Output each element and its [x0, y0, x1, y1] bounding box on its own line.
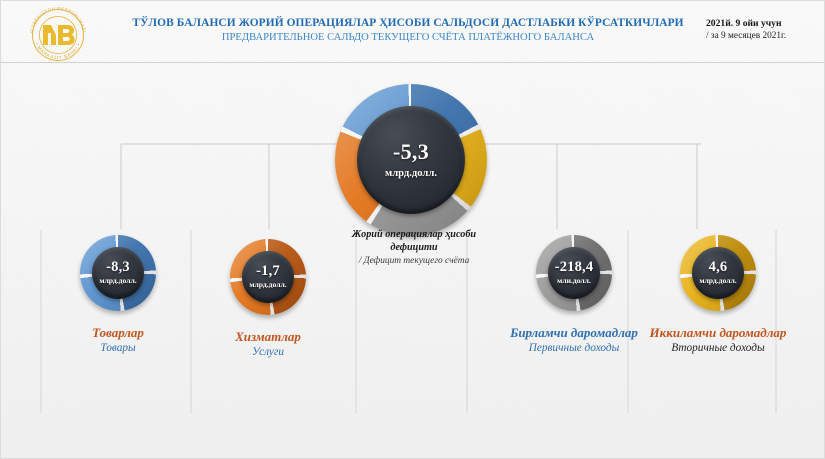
node-label-ru: Услуги	[188, 345, 348, 360]
node-unit: млн.долл.	[557, 276, 591, 286]
node-unit: млрд.долл.	[99, 276, 136, 286]
node-label-ru: Первичные доходы	[494, 341, 654, 356]
node-value: 4,6	[709, 260, 728, 275]
central-donut-chart: -5,3 млрд.долл.	[335, 84, 487, 236]
central-value: -5,3	[393, 140, 429, 164]
title-block: ТЎЛОВ БАЛАНСИ ЖОРИЙ ОПЕРАЦИЯЛАР ҲИСОБИ С…	[113, 16, 703, 45]
page-title-ru: ПРЕДВАРИТЕЛЬНОЕ САЛЬДО ТЕКУЩЕГО СЧЁТА ПЛ…	[113, 31, 703, 45]
central-unit: млрд.долл.	[385, 167, 437, 181]
node-label-uz: Товарлар	[38, 325, 198, 341]
node-label-primary-income: Бирламчи даромадлар Первичные доходы	[494, 325, 654, 356]
node-label-secondary-income: Иккиламчи даромадлар Вторичные доходы	[638, 325, 798, 356]
node-services[interactable]: -1,7 млрд.долл. Хизматлар Услуги	[188, 239, 348, 360]
node-hub-goods: -8,3 млрд.долл.	[92, 247, 144, 299]
node-hub-primary-income: -218,4 млн.долл.	[548, 247, 600, 299]
node-label-services: Хизматлар Услуги	[188, 329, 348, 360]
node-label-ru: Товары	[38, 341, 198, 356]
page-title-uz: ТЎЛОВ БАЛАНСИ ЖОРИЙ ОПЕРАЦИЯЛАР ҲИСОБИ С…	[113, 16, 703, 30]
period-block: 2021й. 9 ойи учун / за 9 месяцев 2021г.	[706, 17, 818, 43]
svg-text:O'ZBEKISTON RESPUBLIKASI: O'ZBEKISTON RESPUBLIKASI	[29, 6, 87, 33]
node-label-ru: Вторичные доходы	[638, 341, 798, 356]
node-donut-secondary-income: 4,6 млрд.долл.	[680, 235, 756, 311]
node-value: -1,7	[256, 264, 280, 279]
period-uz: 2021й. 9 ойи учун	[706, 17, 818, 30]
central-caption-ru: / Дефицит текущего счёта	[349, 255, 479, 267]
node-label-goods: Товарлар Товары	[38, 325, 198, 356]
node-goods[interactable]: -8,3 млрд.долл. Товарлар Товары	[38, 235, 198, 356]
node-label-uz: Хизматлар	[188, 329, 348, 345]
node-label-uz: Иккиламчи даромадлар	[638, 325, 798, 341]
central-caption: Жорий операциялар ҳисоби дефицити / Дефи…	[349, 229, 479, 267]
node-label-uz: Бирламчи даромадлар	[494, 325, 654, 341]
header-divider	[1, 62, 825, 63]
period-ru: / за 9 месяцев 2021г.	[706, 30, 818, 43]
node-primary-income[interactable]: -218,4 млн.долл. Бирламчи даромадлар Пер…	[494, 235, 654, 356]
node-donut-primary-income: -218,4 млн.долл.	[536, 235, 612, 311]
node-donut-services: -1,7 млрд.долл.	[230, 239, 306, 315]
node-value: -218,4	[555, 260, 594, 275]
central-donut-hub: -5,3 млрд.долл.	[357, 106, 465, 214]
node-unit: млрд.долл.	[699, 276, 736, 286]
node-donut-goods: -8,3 млрд.долл.	[80, 235, 156, 311]
slide-canvas: O'ZBEKISTON RESPUBLIKASI • MARKAZIY BANK…	[0, 0, 825, 459]
node-secondary-income[interactable]: 4,6 млрд.долл. Иккиламчи даромадлар Втор…	[638, 235, 798, 356]
node-hub-services: -1,7 млрд.долл.	[242, 251, 294, 303]
central-caption-uz: Жорий операциялар ҳисоби дефицити	[349, 229, 479, 254]
uzbekistan-central-bank-logo-icon: O'ZBEKISTON RESPUBLIKASI • MARKAZIY BANK…	[23, 3, 93, 61]
node-unit: млрд.долл.	[249, 280, 286, 290]
header: O'ZBEKISTON RESPUBLIKASI • MARKAZIY BANK…	[1, 1, 825, 63]
node-hub-secondary-income: 4,6 млрд.долл.	[692, 247, 744, 299]
node-value: -8,3	[106, 260, 130, 275]
